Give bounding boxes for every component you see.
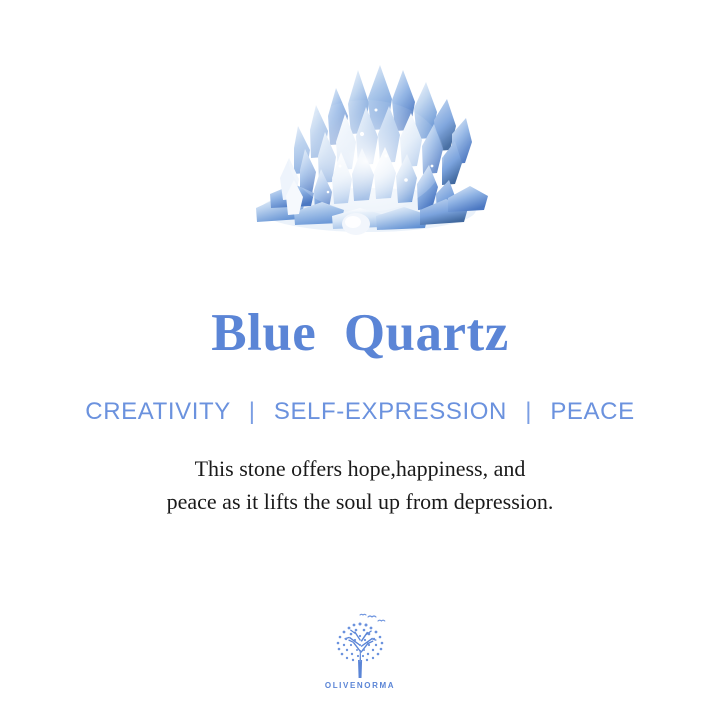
page-title: Blue Quartz — [0, 306, 720, 360]
stone-description: This stone offers hope,happiness, and pe… — [0, 452, 720, 518]
description-line-2: peace as it lifts the soul up from depre… — [0, 485, 720, 518]
blue-quartz-crystal-image — [236, 38, 496, 238]
product-info-card: Blue Quartz CREATIVITY | SELF-EXPRESSION… — [0, 0, 720, 720]
description-line-1: This stone offers hope,happiness, and — [0, 452, 720, 485]
keyword-separator: | — [238, 398, 267, 426]
tree-of-life-icon — [322, 612, 398, 678]
keyword-list: CREATIVITY | SELF-EXPRESSION | PEACE — [0, 398, 720, 426]
keyword-separator: | — [514, 398, 543, 426]
keyword-creativity: CREATIVITY — [85, 398, 230, 425]
keyword-self-expression: SELF-EXPRESSION — [274, 398, 507, 425]
brand-logo: OLIVENORMA — [0, 612, 720, 690]
keyword-peace: PEACE — [550, 398, 634, 425]
brand-wordmark: OLIVENORMA — [325, 681, 395, 690]
